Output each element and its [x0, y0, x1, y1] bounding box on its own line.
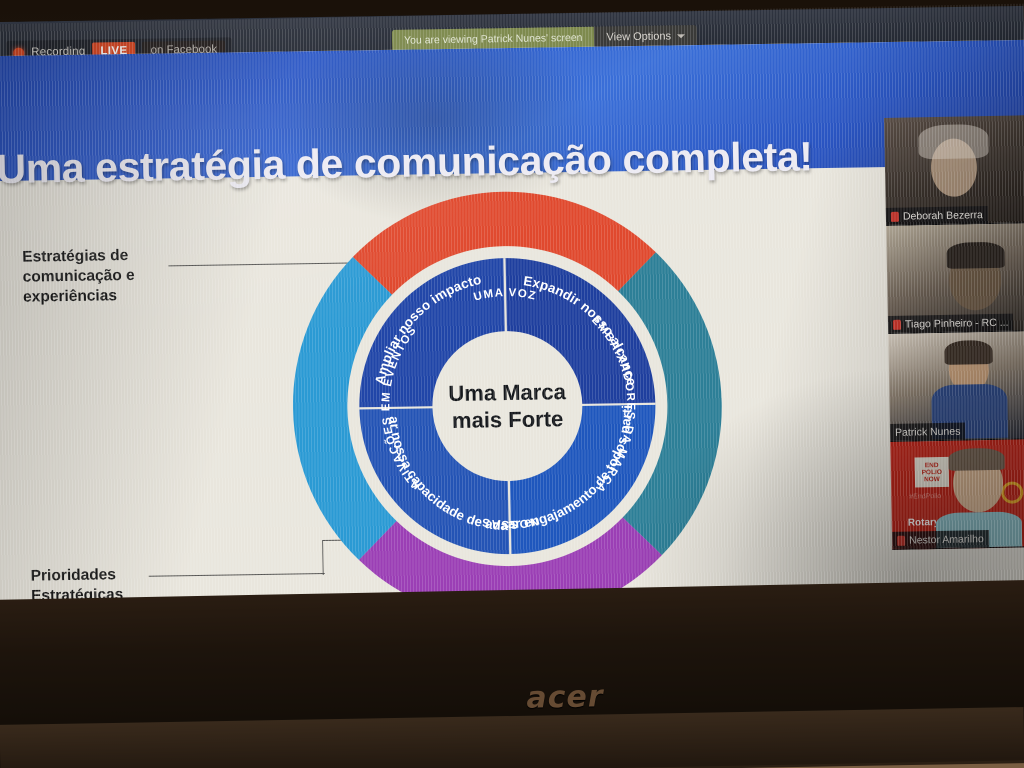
avatar-hair: [948, 448, 1004, 471]
view-options-label: View Options: [606, 30, 671, 43]
participant-name-bar: Patrick Nunes: [890, 422, 966, 440]
participant-tile[interactable]: Patrick Nunes: [888, 331, 1024, 442]
shared-slide: Uma estratégia de comunicação completa! …: [0, 40, 1024, 622]
rotary-wordmark: Rotary: [908, 517, 940, 529]
microphone-muted-icon: [897, 535, 905, 545]
donut-svg: UMA VOZ NOSSAS ATIVAÇÕES EM EVENTOS EMBA…: [273, 173, 742, 623]
participant-name: Deborah Bezerra: [903, 209, 983, 223]
callout-strategies-line-3: experiências: [23, 286, 135, 308]
participant-filmstrip: Deborah Bezerra Tiago Pinheiro - RC ... …: [884, 115, 1024, 548]
rotary-wheel-icon: [1001, 481, 1023, 503]
participant-name-bar: Deborah Bezerra: [886, 206, 988, 225]
callout-priorities-line-1: Prioridades: [30, 565, 123, 586]
center-label-line-1: Uma Marca: [448, 379, 567, 406]
avatar-hair: [946, 242, 1004, 269]
end-polio-now-logo: ENDPOLIONOW: [915, 457, 950, 488]
participant-tile[interactable]: Deborah Bezerra: [884, 115, 1024, 226]
participant-name: Nestor Amarilho: [909, 533, 984, 546]
brand-logo: acer: [505, 679, 626, 717]
participant-name-bar: Nestor Amarilho: [892, 530, 989, 549]
photo-of-laptop-screen: Recording LIVE on Facebook You are viewi…: [0, 0, 1024, 768]
laptop-screen: Recording LIVE on Facebook You are viewi…: [0, 6, 1024, 670]
hashtag-text: #EndPolio: [909, 493, 941, 501]
avatar-hair: [944, 340, 992, 365]
participant-name: Patrick Nunes: [895, 425, 961, 438]
microphone-muted-icon: [893, 319, 901, 329]
chevron-down-icon: [677, 34, 685, 38]
participant-tile[interactable]: Tiago Pinheiro - RC ...: [886, 223, 1024, 334]
strategy-donut-diagram: UMA VOZ NOSSAS ATIVAÇÕES EM EVENTOS EMBA…: [273, 173, 742, 623]
participant-tile[interactable]: ENDPOLIONOW #EndPolio Rotary Nestor Amar…: [890, 439, 1024, 550]
microphone-muted-icon: [891, 211, 899, 221]
callout-strategies-line-1: Estratégias de: [22, 246, 134, 268]
center-label-line-2: mais Forte: [452, 406, 564, 433]
participant-name-bar: Tiago Pinheiro - RC ...: [888, 314, 1014, 333]
participant-name: Tiago Pinheiro - RC ...: [905, 316, 1009, 330]
callout-strategies: Estratégias de comunicação e experiência…: [22, 246, 135, 307]
avatar-hair: [918, 124, 989, 159]
callout-strategies-line-2: comunicação e: [22, 266, 134, 288]
